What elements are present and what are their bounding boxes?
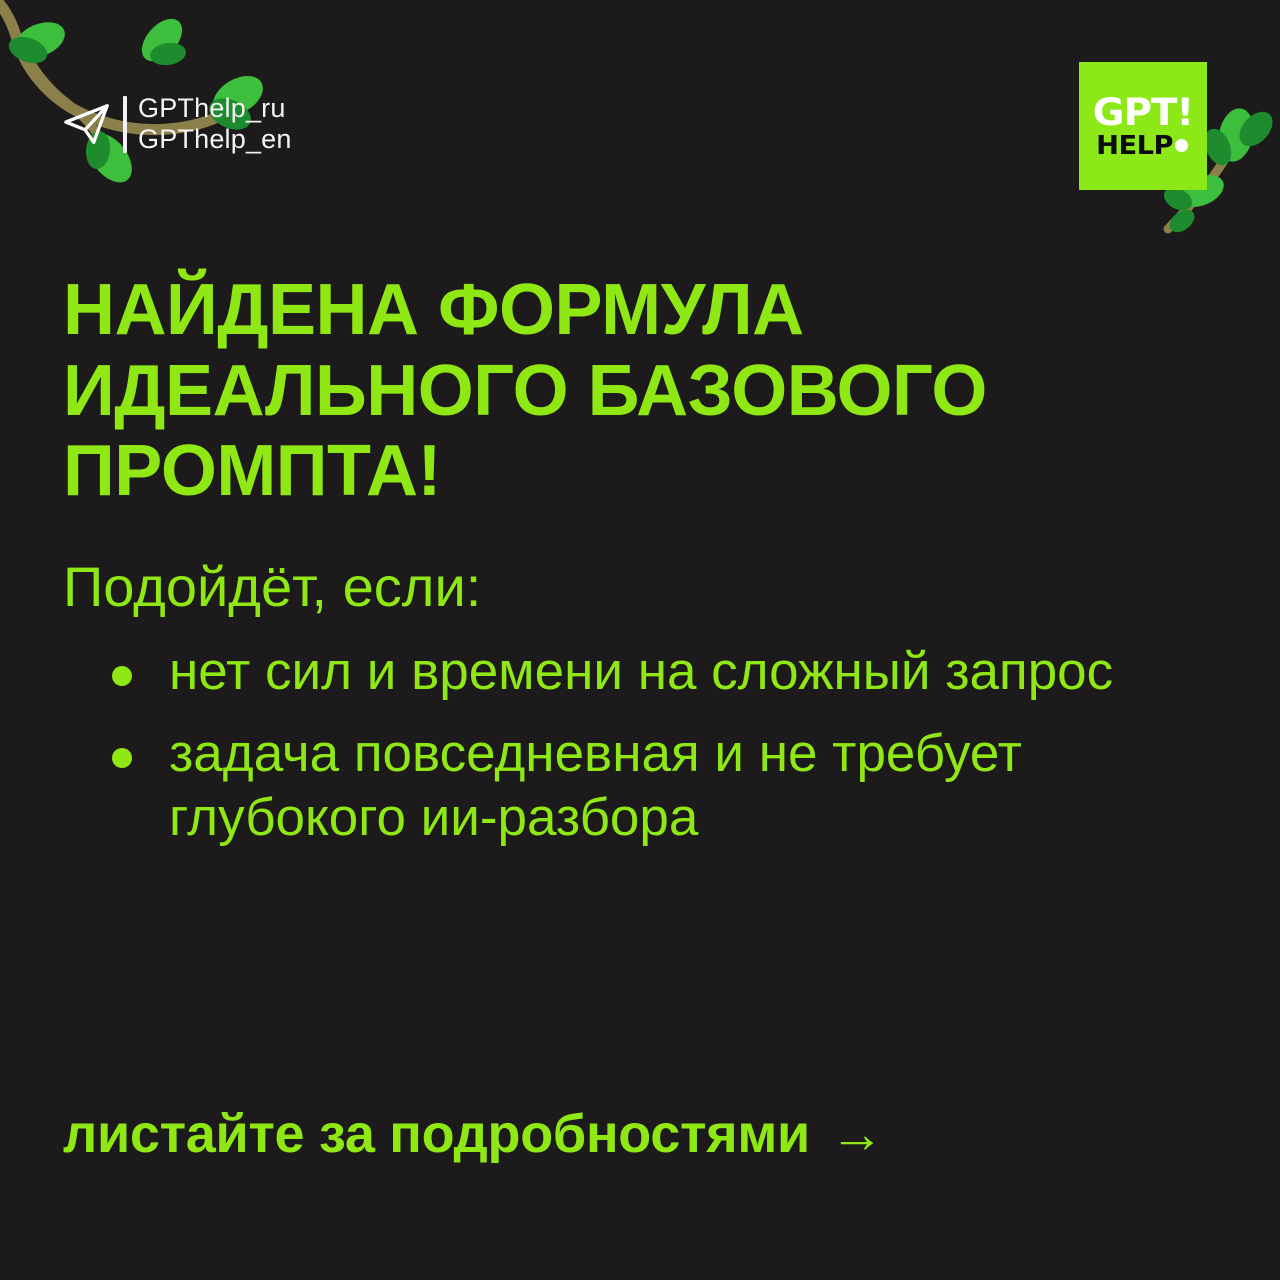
slide-canvas: GPThelp_ru GPThelp_en GPT! HELP НАЙДЕНА … <box>0 0 1280 1280</box>
telegram-handle-ru[interactable]: GPThelp_ru <box>138 93 292 124</box>
logo-line-help: HELP <box>1096 133 1173 159</box>
list-item: задача повседневная и не требует глубоко… <box>63 722 1203 850</box>
page-title: НАЙДЕНА ФОРМУЛА ИДЕАЛЬНОГО БАЗОВОГО ПРОМ… <box>63 270 1073 512</box>
benefits-list: нет сил и времени на сложный запрос зада… <box>63 640 1203 868</box>
list-item: нет сил и времени на сложный запрос <box>63 640 1203 704</box>
list-item-label: задача повседневная и не требует глубоко… <box>169 724 1022 847</box>
logo-line-help-wrap: HELP <box>1098 133 1188 159</box>
headline-line-3: ПРОМПТА! <box>63 431 441 511</box>
cta-label: листайте за подробностями <box>63 1103 810 1165</box>
telegram-paper-plane-icon <box>62 99 112 149</box>
bullet-dot-icon <box>112 748 132 768</box>
telegram-handle-en[interactable]: GPThelp_en <box>138 124 292 155</box>
logo-line-gpt: GPT! <box>1093 94 1193 131</box>
lead-text: Подойдёт, если: <box>63 556 481 618</box>
swipe-cta[interactable]: листайте за подробностями → <box>63 1103 884 1165</box>
telegram-handle-list: GPThelp_ru GPThelp_en <box>138 93 292 156</box>
logo-dot-icon <box>1175 139 1188 152</box>
headline-line-1: НАЙДЕНА ФОРМУЛА <box>63 270 804 350</box>
list-item-label: нет сил и времени на сложный запрос <box>169 642 1113 701</box>
gpt-help-logo-badge[interactable]: GPT! HELP <box>1079 62 1207 190</box>
bullet-dot-icon <box>112 666 132 686</box>
telegram-handles-block[interactable]: GPThelp_ru GPThelp_en <box>62 93 292 156</box>
vertical-divider <box>123 96 127 153</box>
headline-line-2: ИДЕАЛЬНОГО БАЗОВОГО <box>63 351 987 431</box>
arrow-right-icon: → <box>830 1107 884 1161</box>
